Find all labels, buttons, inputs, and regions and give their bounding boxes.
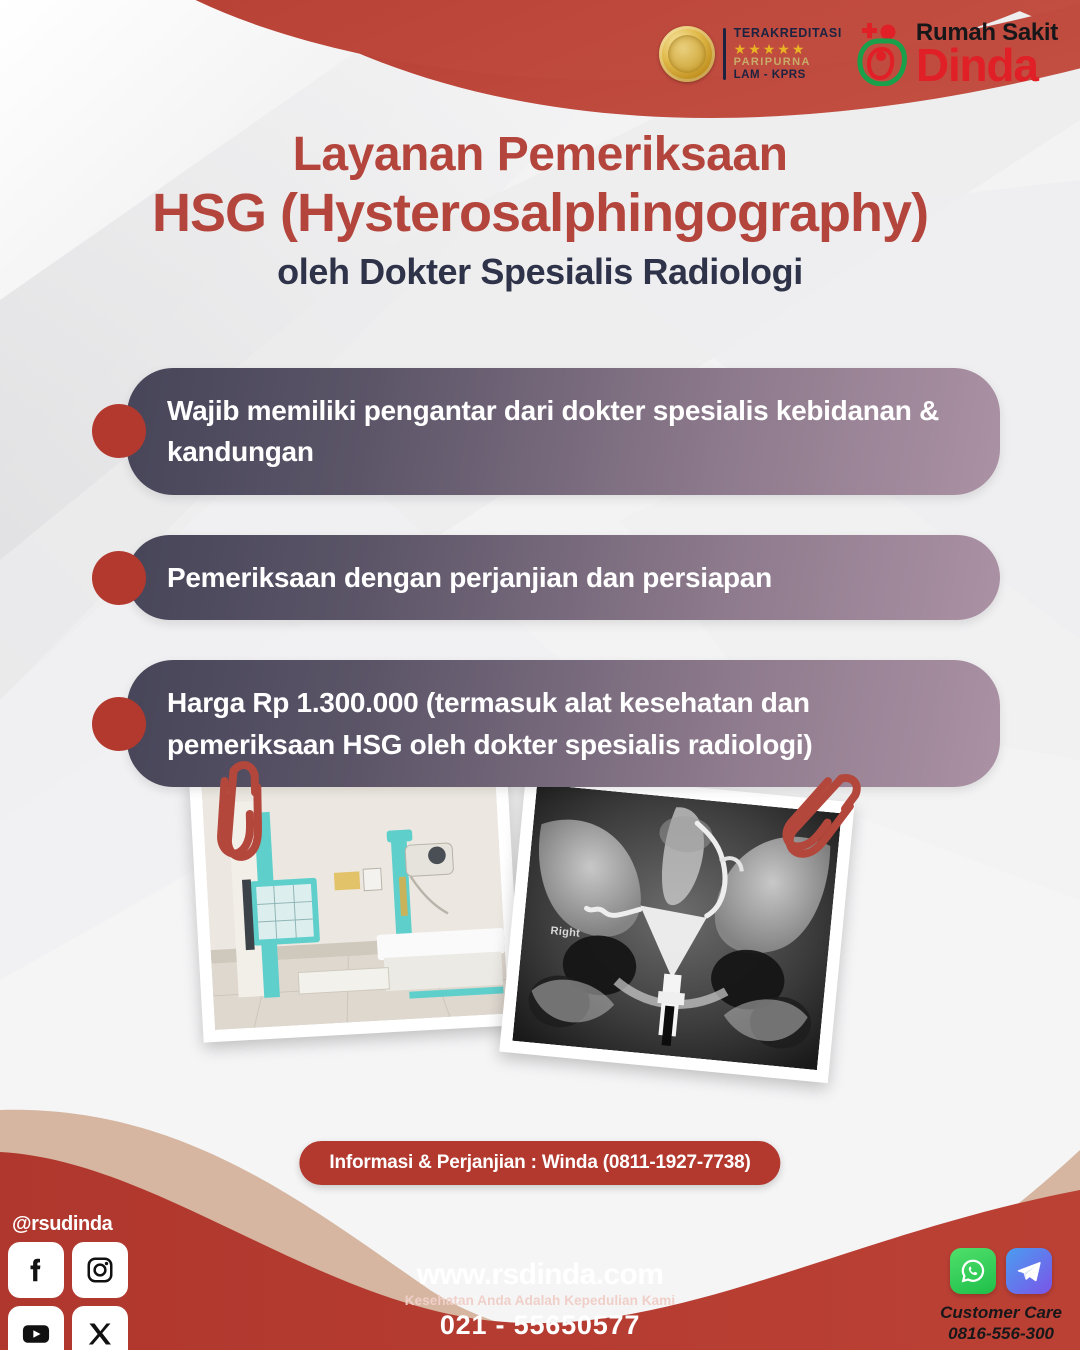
- info-pill-text: Harga Rp 1.300.000 (termasuk alat keseha…: [167, 682, 966, 765]
- info-pill-item: Wajib memiliki pengantar dari dokter spe…: [92, 368, 1000, 495]
- customer-care-block: Customer Care 0816-556-300: [940, 1248, 1062, 1345]
- bullet-dot-icon: [92, 551, 146, 605]
- footer-contact: www.rsdinda.com Kesehatan Anda Adalah Ke…: [0, 1258, 1080, 1341]
- customer-care-title: Customer Care: [940, 1302, 1062, 1323]
- website-url[interactable]: www.rsdinda.com: [0, 1258, 1080, 1292]
- bullet-dot-icon: [92, 697, 146, 751]
- accreditation-badge: TERAKREDITASI ★★★★★ PARIPURNA LAM - KPRS: [659, 26, 842, 82]
- bullet-dot-icon: [92, 404, 146, 458]
- info-pill-list: Wajib memiliki pengantar dari dokter spe…: [92, 368, 1000, 827]
- info-pill-body: Pemeriksaan dengan perjanjian dan persia…: [127, 535, 1000, 620]
- contact-info-banner[interactable]: Informasi & Perjanjian : Winda (0811-192…: [299, 1141, 780, 1185]
- whatsapp-button[interactable]: [950, 1248, 996, 1294]
- title-block: Layanan Pemeriksaan HSG (Hysterosalphing…: [0, 128, 1080, 293]
- accreditation-stars-icon: ★★★★★: [734, 41, 842, 57]
- info-pill-item: Pemeriksaan dengan perjanjian dan persia…: [92, 535, 1000, 620]
- footer-tagline: Kesehatan Anda Adalah Kepedulian Kami: [0, 1293, 1080, 1308]
- telegram-icon: [1015, 1257, 1043, 1285]
- title-line-1: Layanan Pemeriksaan: [0, 128, 1080, 182]
- divider: [723, 28, 726, 80]
- social-handle: @rsudinda: [8, 1213, 128, 1236]
- brand-line2: Dinda: [916, 44, 1058, 86]
- title-line-3: oleh Dokter Spesialis Radiologi: [0, 251, 1080, 293]
- hospital-logo: Rumah Sakit Dinda: [852, 22, 1058, 86]
- poster-root: TERAKREDITASI ★★★★★ PARIPURNA LAM - KPRS…: [0, 0, 1080, 1350]
- accreditation-line2: PARIPURNA: [734, 57, 842, 69]
- footer-phone[interactable]: 021 - 55650577: [0, 1310, 1080, 1341]
- accreditation-line3: LAM - KPRS: [734, 69, 842, 81]
- telegram-button[interactable]: [1006, 1248, 1052, 1294]
- whatsapp-icon: [959, 1257, 987, 1285]
- title-line-2: HSG (Hysterosalphingography): [0, 182, 1080, 246]
- mother-child-cross-logo-icon: [852, 22, 910, 86]
- accreditation-line1: TERAKREDITASI: [734, 27, 842, 41]
- info-pill-text: Wajib memiliki pengantar dari dokter spe…: [167, 390, 966, 473]
- info-pill-text: Pemeriksaan dengan perjanjian dan persia…: [167, 557, 966, 598]
- gold-medal-icon: [659, 26, 715, 82]
- info-pill-body: Wajib memiliki pengantar dari dokter spe…: [127, 368, 1000, 495]
- customer-care-number[interactable]: 0816-556-300: [940, 1323, 1062, 1344]
- header-logos: TERAKREDITASI ★★★★★ PARIPURNA LAM - KPRS…: [659, 22, 1058, 86]
